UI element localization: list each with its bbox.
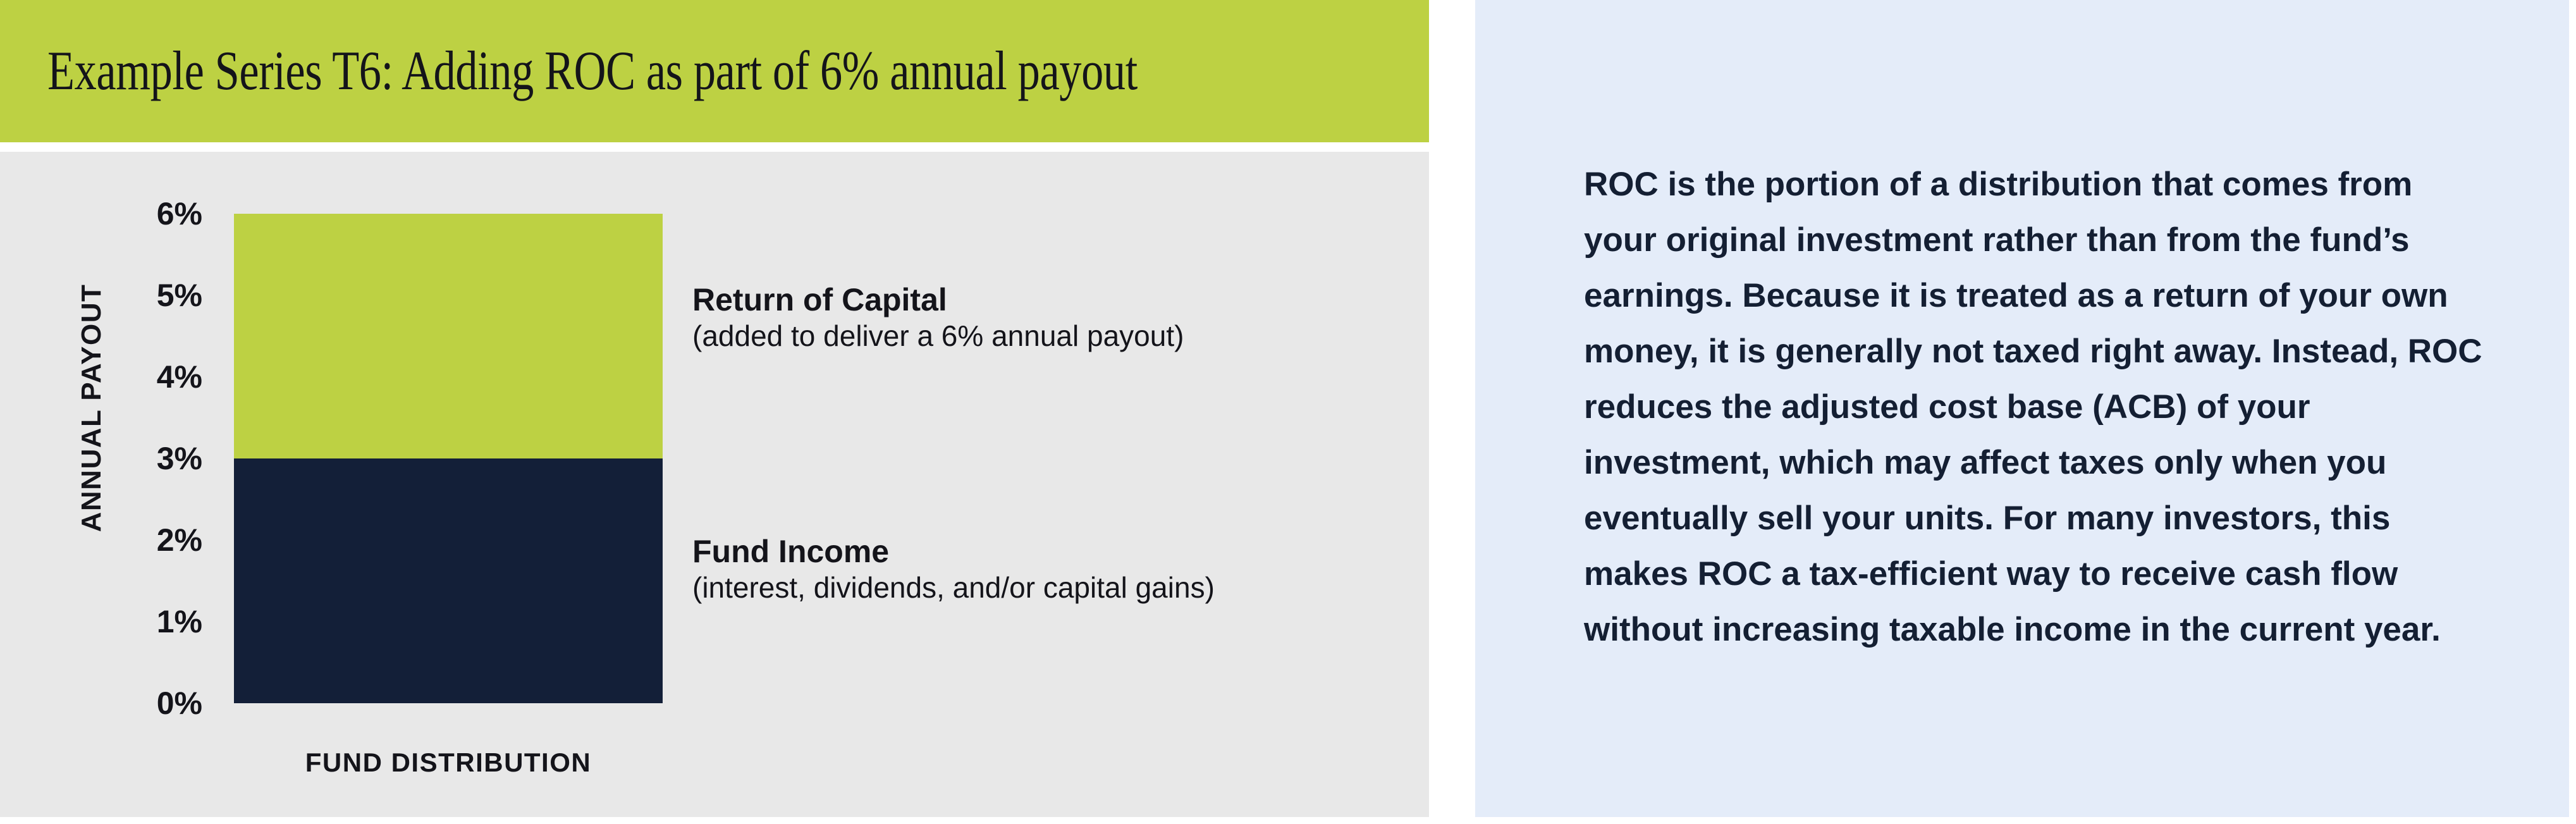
- chart-card: Example Series T6: Adding ROC as part of…: [0, 0, 1429, 817]
- bar-segment-fund-income: [234, 458, 663, 703]
- y-tick-label: 1%: [82, 606, 202, 637]
- y-tick-label: 6%: [82, 198, 202, 230]
- page-title: Example Series T6: Adding ROC as part of…: [47, 0, 1138, 142]
- bar-segment-return-of-capital: [234, 214, 663, 458]
- chart-plot-panel: ANNUAL PAYOUT 6% 5% 4% 3% 2% 1% 0% FUND …: [0, 152, 1429, 817]
- y-tick-label: 5%: [82, 280, 202, 311]
- legend-label-fund-income: Fund Income: [692, 533, 1215, 570]
- y-tick-label: 0%: [82, 687, 202, 719]
- legend-item-fund-income: Fund Income (interest, dividends, and/or…: [692, 533, 1215, 605]
- legend-sublabel-fund-income: (interest, dividends, and/or capital gai…: [692, 570, 1215, 605]
- legend-item-return-of-capital: Return of Capital (added to deliver a 6%…: [692, 281, 1184, 353]
- legend-label-return-of-capital: Return of Capital: [692, 281, 1184, 319]
- stacked-bar: [234, 214, 663, 703]
- y-tick-label: 3%: [82, 443, 202, 474]
- legend-sublabel-return-of-capital: (added to deliver a 6% annual payout): [692, 319, 1184, 353]
- roc-explainer-panel: ROC is the portion of a distribution tha…: [1475, 0, 2569, 817]
- chart-title-bar: Example Series T6: Adding ROC as part of…: [0, 0, 1429, 142]
- roc-explainer-text: ROC is the portion of a distribution tha…: [1584, 157, 2488, 658]
- x-axis-title: FUND DISTRIBUTION: [234, 747, 663, 778]
- y-axis-tick-labels: 6% 5% 4% 3% 2% 1% 0%: [82, 214, 202, 703]
- y-tick-label: 2%: [82, 524, 202, 556]
- y-tick-label: 4%: [82, 361, 202, 393]
